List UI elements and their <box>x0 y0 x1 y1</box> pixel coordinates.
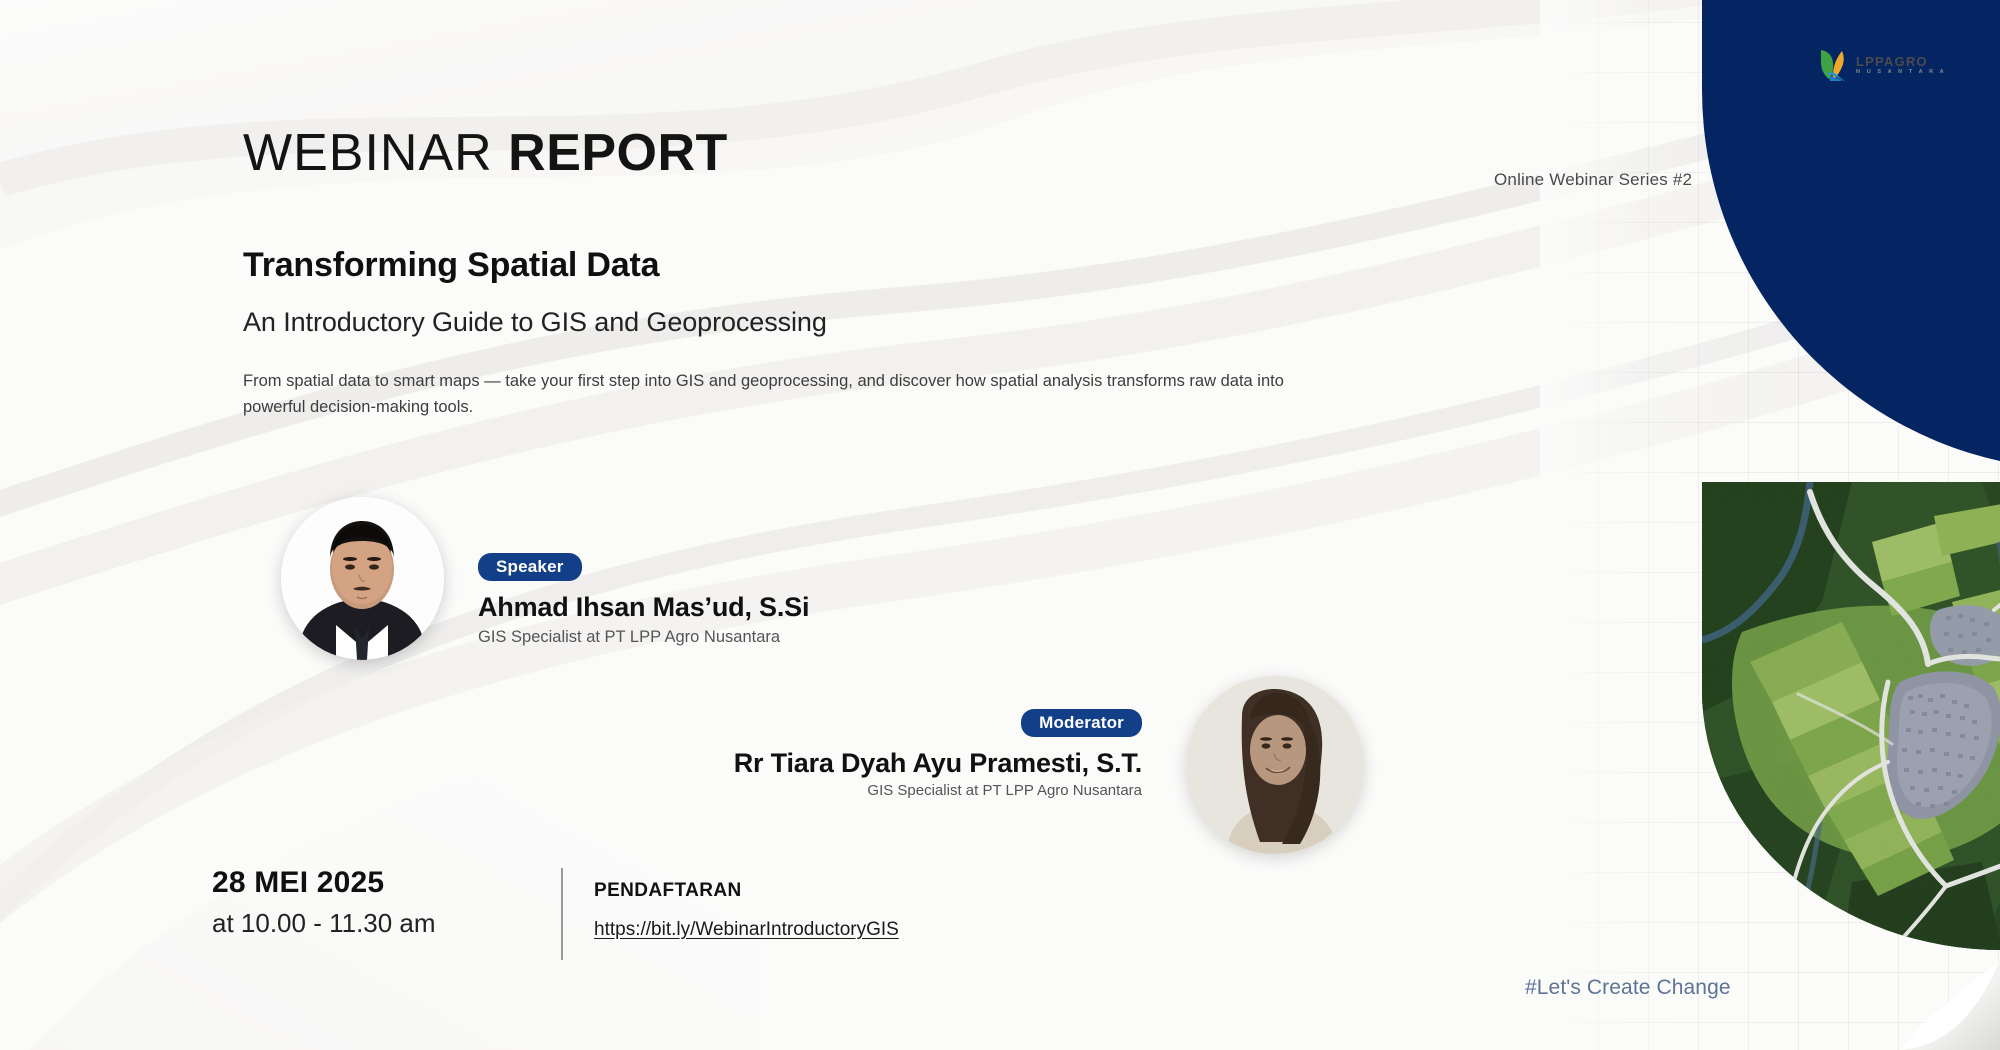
logo-leaf-icon <box>1818 48 1850 82</box>
webinar-title: Transforming Spatial Data <box>243 246 659 285</box>
registration-label: PENDAFTARAN <box>594 880 899 902</box>
moderator-badge: Moderator <box>1021 709 1142 737</box>
footer-divider <box>561 868 563 960</box>
page-title: WEBINAR REPORT <box>243 123 728 183</box>
event-date-block: 28 MEI 2025 at 10.00 - 11.30 am <box>212 866 436 939</box>
speaker-role: GIS Specialist at PT LPP Agro Nusantara <box>478 628 809 647</box>
moderator-role: GIS Specialist at PT LPP Agro Nusantara <box>0 782 1142 799</box>
speaker-avatar <box>281 497 444 660</box>
moderator-name: Rr Tiara Dyah Ayu Pramesti, S.T. <box>0 748 1142 779</box>
event-time: at 10.00 - 11.30 am <box>212 908 436 939</box>
webinar-subtitle: An Introductory Guide to GIS and Geoproc… <box>243 307 827 338</box>
lpp-agro-logo: LPPAGRO N U S A N T A R A <box>1818 48 1946 82</box>
page-curl-decoration <box>1880 960 2000 1050</box>
speaker-portrait-image <box>281 497 444 660</box>
moderator-avatar <box>1186 676 1364 854</box>
webinar-description: From spatial data to smart maps — take y… <box>243 369 1298 420</box>
page-title-light: WEBINAR <box>243 124 508 182</box>
poster-canvas: LPPAGRO N U S A N T A R A Online Webinar… <box>0 0 2000 1050</box>
aerial-image-panel <box>1702 482 2000 950</box>
webinar-series-label: Online Webinar Series #2 <box>1494 170 1692 190</box>
event-date: 28 MEI 2025 <box>212 866 436 900</box>
logo-wordmark: LPPAGRO <box>1856 55 1946 68</box>
moderator-info: Moderator Rr Tiara Dyah Ayu Pramesti, S.… <box>0 709 1142 799</box>
aerial-satellite-image <box>1702 482 2000 950</box>
speaker-info: Speaker Ahmad Ihsan Mas’ud, S.Si GIS Spe… <box>478 553 809 647</box>
speaker-name: Ahmad Ihsan Mas’ud, S.Si <box>478 592 809 623</box>
hashtag-tagline: #Let's Create Change <box>1525 976 1731 1000</box>
logo-subtext: N U S A N T A R A <box>1856 70 1946 76</box>
registration-block: PENDAFTARAN https://bit.ly/WebinarIntrod… <box>594 880 899 941</box>
registration-link[interactable]: https://bit.ly/WebinarIntroductoryGIS <box>594 919 899 941</box>
page-title-bold: REPORT <box>508 124 728 182</box>
speaker-badge: Speaker <box>478 553 582 581</box>
moderator-portrait-image <box>1186 676 1364 854</box>
